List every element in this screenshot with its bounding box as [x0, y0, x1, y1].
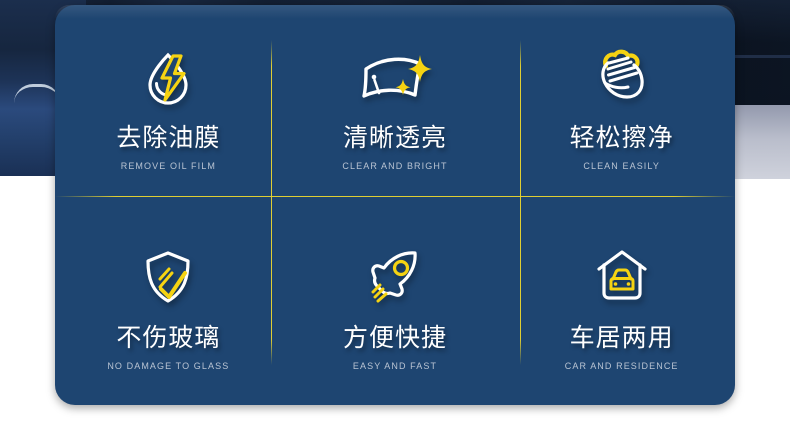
feature-title-en: CAR AND RESIDENCE [565, 362, 679, 371]
feature-cell-easy-and-fast: 方便快捷 EASY AND FAST [282, 205, 509, 405]
feature-cell-clean-easily: 轻松擦净 CLEAN EASILY [508, 5, 735, 205]
feature-cell-remove-oil-film: 去除油膜 REMOVE OIL FILM [55, 5, 282, 205]
feature-cell-car-and-residence: 车居两用 CAR AND RESIDENCE [508, 205, 735, 405]
windshield-sparkle-icon [354, 43, 436, 109]
shield-check-icon [138, 243, 198, 309]
feature-title-cn: 方便快捷 [343, 326, 447, 351]
feature-title-cn: 轻松擦净 [570, 126, 674, 151]
feature-title-cn: 车居两用 [570, 326, 674, 351]
feature-title-cn: 清晰透亮 [343, 126, 447, 151]
feature-grid: 去除油膜 REMOVE OIL FILM 清晰透亮 CLEAR AND BRIG… [55, 5, 735, 405]
feature-title-en: CLEAR AND BRIGHT [342, 162, 447, 171]
feature-title-cn: 不伤玻璃 [116, 326, 220, 351]
house-car-icon [591, 243, 653, 309]
feature-card: 去除油膜 REMOVE OIL FILM 清晰透亮 CLEAR AND BRIG… [55, 5, 735, 405]
feature-title-en: REMOVE OIL FILM [121, 162, 216, 171]
feature-title-cn: 去除油膜 [116, 126, 220, 151]
feature-title-en: CLEAN EASILY [583, 162, 660, 171]
rocket-icon [361, 243, 429, 309]
feature-title-en: NO DAMAGE TO GLASS [107, 362, 229, 371]
wiping-hand-icon [587, 43, 657, 109]
feature-cell-clear-and-bright: 清晰透亮 CLEAR AND BRIGHT [282, 5, 509, 205]
droplet-lightning-icon [137, 43, 199, 109]
promo-banner: 去除油膜 REMOVE OIL FILM 清晰透亮 CLEAR AND BRIG… [0, 0, 790, 446]
feature-cell-no-damage-to-glass: 不伤玻璃 NO DAMAGE TO GLASS [55, 205, 282, 405]
feature-title-en: EASY AND FAST [353, 362, 437, 371]
